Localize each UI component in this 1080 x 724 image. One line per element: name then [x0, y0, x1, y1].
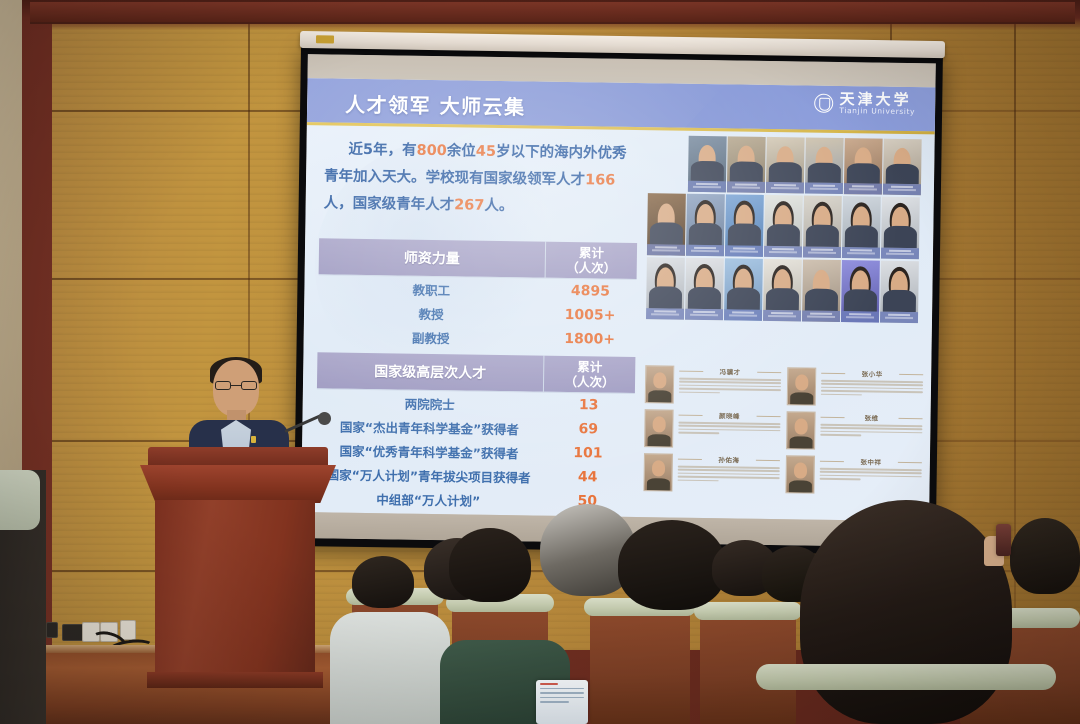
row-label: 中组部“万人计划”: [315, 485, 541, 512]
body-mid-3: 人，国家级青年人才: [324, 195, 455, 213]
body-number-2: 45: [476, 144, 496, 160]
shield-seal-icon: [814, 94, 833, 113]
table-header-label: 国家级高层次人才: [317, 352, 544, 391]
portrait-photo: [803, 195, 842, 258]
portrait-photo: [881, 197, 920, 260]
portrait-photo: [688, 136, 727, 193]
profile-card: 张中祥: [785, 455, 922, 495]
audience-head: [449, 528, 531, 602]
portrait-photo: [844, 138, 883, 195]
screen-canvas: 人才领军 大师云集 天津大学 Tianjin University 近5年，有8…: [301, 54, 936, 547]
row-label: 教职工: [318, 275, 544, 302]
statistics-tables: 师资力量 累计 （人次） 教职工 4895 教授 1005+: [315, 238, 637, 514]
seat-headrest: [694, 602, 802, 620]
wall-outlet: [120, 620, 136, 640]
logo-text-en: Tianjin University: [839, 107, 915, 116]
portrait-photo: [841, 260, 880, 323]
profile-card: 颜晓峰: [644, 409, 781, 449]
table-header-row: 师资力量 累计 （人次）: [319, 238, 638, 280]
header-value-line1: 累计: [544, 359, 635, 375]
portrait-photo: [842, 196, 881, 259]
profile-description: [820, 468, 922, 481]
portrait-photo: [763, 259, 802, 322]
portrait-photo: [805, 137, 844, 194]
row-label: 副教授: [318, 323, 544, 350]
portrait-photo: [686, 194, 725, 257]
slide-title: 人才领军 大师云集: [345, 89, 526, 121]
microphone-icon: [318, 412, 331, 425]
presentation-slide: 人才领军 大师云集 天津大学 Tianjin University 近5年，有8…: [301, 78, 935, 521]
foreground-chair-armrest: [0, 470, 40, 530]
row-value: 44: [541, 466, 633, 488]
podium-desk: [140, 465, 336, 503]
row-value: 1800+: [544, 328, 636, 350]
table-header-value: 累计 （人次）: [545, 242, 638, 279]
profile-photo: [643, 453, 673, 491]
header-value-line2: （人次）: [546, 260, 637, 276]
faculty-table: 师资力量 累计 （人次） 教职工 4895 教授 1005+: [318, 238, 638, 352]
profile-name: 张维: [820, 412, 922, 424]
profile-photo: [645, 365, 675, 403]
projector-screen: 人才领军 大师云集 天津大学 Tianjin University 近5年，有8…: [294, 46, 943, 555]
row-label: 国家“优秀青年科学基金”获得者: [316, 437, 542, 464]
portrait-photo: [764, 195, 803, 258]
profile-description: [678, 466, 780, 483]
body-number-3: 166: [585, 172, 616, 188]
profile-card: 张小华: [787, 367, 924, 407]
seat-headrest: [756, 664, 1056, 690]
podium-top: [148, 447, 328, 467]
university-logo: 天津大学 Tianjin University: [814, 92, 915, 117]
body-number-4: 267: [454, 197, 485, 213]
profile-cards-column-left: 冯骥才 颜晓峰: [643, 365, 781, 493]
portrait-photo: [725, 194, 764, 257]
profile-description: [679, 378, 781, 395]
podium-base: [147, 672, 323, 688]
profile-name: 张小华: [821, 368, 923, 380]
talent-table: 国家级高层次人才 累计 （人次） 两院院士 13 国家“杰出青年科学基金”获得者: [315, 352, 635, 514]
body-number-1: 800: [416, 143, 447, 159]
profile-name: 孙佑海: [678, 454, 780, 466]
body-prefix: 近5年，有: [348, 142, 416, 159]
row-value: 101: [542, 442, 634, 464]
roller-label: [316, 35, 334, 43]
mosaic-row: [648, 135, 927, 195]
profile-name: 冯骥才: [679, 366, 781, 378]
profile-photo: [644, 409, 674, 447]
mosaic-row: [647, 193, 926, 259]
lapel-badge: [251, 436, 256, 443]
table-row: 副教授 1800+: [318, 323, 636, 352]
profile-description: [820, 424, 922, 437]
profile-photo: [785, 455, 815, 493]
phone-screen: [536, 680, 588, 724]
table-header-value: 累计 （人次）: [543, 356, 636, 393]
table-header-label: 师资力量: [319, 238, 546, 277]
profile-description: [821, 380, 923, 397]
portrait-photo: [883, 139, 922, 196]
row-label: 国家“万人计划”青年拔尖项目获得者: [315, 461, 541, 488]
row-value: 13: [543, 394, 635, 416]
wall-plate-dark: [46, 622, 58, 638]
header-value-line2: （人次）: [544, 374, 635, 390]
profile-card: 冯骥才: [645, 365, 782, 405]
portrait-photo: [647, 193, 686, 256]
portrait-photo: [727, 136, 766, 193]
profile-card: 孙佑海: [643, 453, 780, 493]
mosaic-row: [646, 257, 925, 323]
portrait-mosaic: [646, 135, 927, 325]
portrait-photo: [724, 258, 763, 321]
profile-cards-column-right: 张小华 张维: [785, 367, 923, 495]
podium-body: [155, 500, 315, 678]
profile-photo: [787, 367, 817, 405]
audience-shoulders: [330, 612, 450, 724]
foreground-audience-head: [800, 500, 1012, 724]
glasses-icon: [215, 381, 257, 390]
portrait-photo: [685, 258, 724, 321]
phone-camera: [996, 524, 1011, 556]
table-header-row: 国家级高层次人才 累计 （人次）: [317, 352, 636, 394]
portrait-photo: [646, 257, 685, 320]
audience-head: [618, 520, 726, 610]
row-value: 69: [542, 418, 634, 440]
row-label: 两院院士: [317, 389, 543, 416]
portrait-photo: [766, 137, 805, 194]
audience-head: [1010, 518, 1080, 594]
row-value: 1005+: [544, 304, 636, 326]
profile-cards: 冯骥才 颜晓峰: [643, 365, 923, 495]
audience-head: [352, 556, 414, 608]
profile-description: [678, 422, 780, 435]
auditorium-seat: [590, 600, 690, 724]
profile-name: 张中祥: [820, 456, 922, 468]
wall-plate-dark: [62, 624, 84, 641]
top-molding: [30, 2, 1075, 24]
profile-card: 张维: [786, 411, 923, 451]
row-label: 教授: [318, 299, 544, 326]
body-mid-1: 余位: [447, 143, 476, 159]
body-suffix: 人。: [484, 198, 513, 214]
portrait-photo: [802, 259, 841, 322]
header-value-line1: 累计: [546, 245, 637, 261]
slide-body-text: 近5年，有800余位45岁以下的海内外优秀青年加入天大。学校现有国家级领军人才1…: [323, 136, 634, 222]
row-value: 4895: [544, 280, 636, 302]
profile-name: 颜晓峰: [678, 410, 780, 422]
lecture-hall-photo: 人才领军 大师云集 天津大学 Tianjin University 近5年，有8…: [0, 0, 1080, 724]
portrait-photo: [880, 261, 919, 324]
row-label: 国家“杰出青年科学基金”获得者: [316, 413, 542, 440]
profile-photo: [786, 411, 816, 449]
